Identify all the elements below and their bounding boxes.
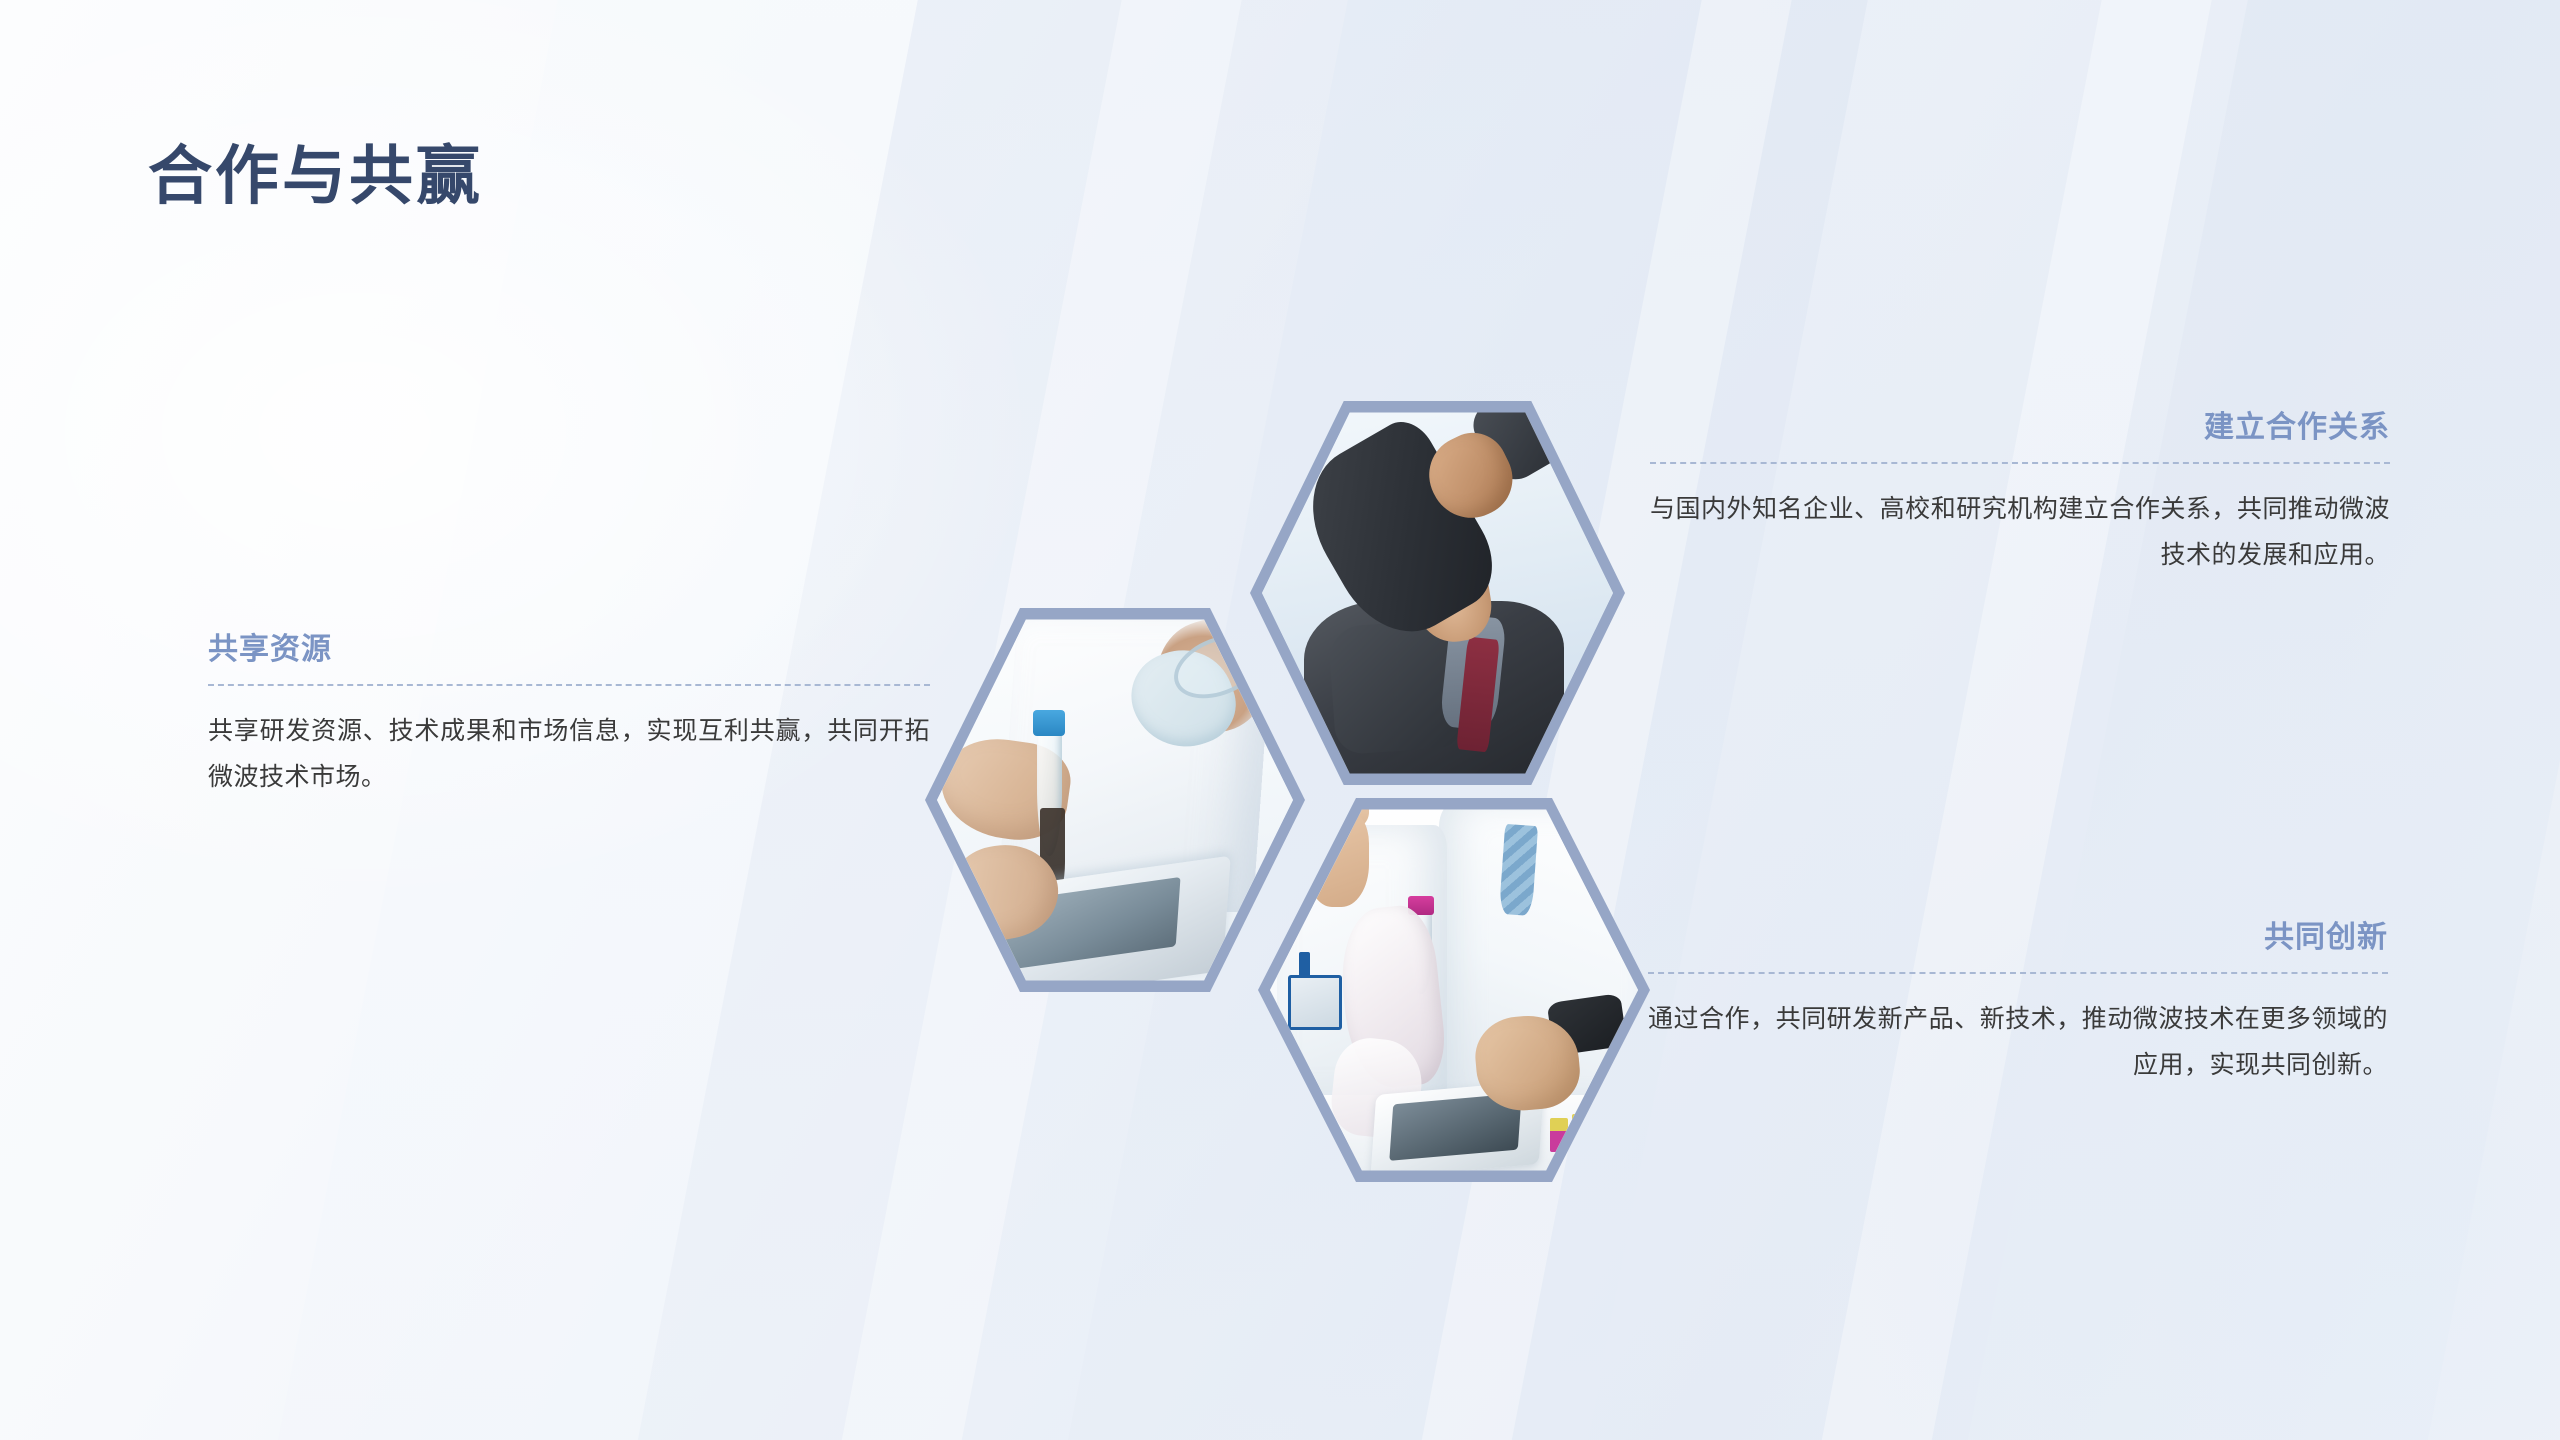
- band-highlight-3: [1752, 0, 2270, 1440]
- hexagon-border: [925, 600, 1305, 1000]
- hexagon-border: [1250, 393, 1625, 793]
- info-block-shared-resources: 共享资源 共享研发资源、技术成果和市场信息，实现互利共赢，共同开拓微波技术市场。: [208, 632, 930, 801]
- hexagon-border: [1258, 790, 1650, 1190]
- sample-vial-2-shape: [1572, 1114, 1590, 1148]
- hexagon-image-mask: [1270, 802, 1638, 1178]
- info-block-heading: 共同创新: [1648, 920, 2388, 956]
- photo-researchers: [1270, 802, 1638, 1178]
- info-block-body: 与国内外知名企业、高校和研究机构建立合作关系，共同推动微波技术的发展和应用。: [1650, 486, 2390, 579]
- page-title: 合作与共赢: [148, 125, 483, 217]
- photo-handshake: [1262, 405, 1613, 781]
- slide-canvas: 合作与共赢: [0, 0, 2560, 1440]
- band-4: [1902, 0, 2560, 1440]
- band-3: [1522, 0, 2310, 1440]
- sample-vial-1-shape: [1550, 1118, 1568, 1152]
- info-block-heading: 共享资源: [208, 632, 930, 668]
- neck-shape: [1307, 810, 1370, 908]
- info-block-joint-innovation: 共同创新 通过合作，共同研发新产品、新技术，推动微波技术在更多领域的应用，实现共…: [1648, 920, 2388, 1089]
- id-badge-shape: [1288, 975, 1342, 1030]
- hexagon-image-mask: [937, 612, 1293, 988]
- hexagon-image-mask: [1262, 405, 1613, 781]
- test-tube-cap-shape: [1033, 710, 1065, 736]
- divider-dashed: [1650, 462, 2390, 464]
- hexagon-handshake: [1250, 393, 1625, 793]
- divider-dashed: [208, 684, 930, 686]
- sample-vial-3-shape: [1561, 1140, 1579, 1174]
- info-block-establish-partnership: 建立合作关系 与国内外知名企业、高校和研究机构建立合作关系，共同推动微波技术的发…: [1650, 410, 2390, 579]
- divider-dashed: [1648, 972, 2388, 974]
- photo-lab-testtube: [937, 612, 1293, 988]
- hexagon-researchers: [1258, 790, 1650, 1190]
- info-block-body: 通过合作，共同研发新产品、新技术，推动微波技术在更多领域的应用，实现共同创新。: [1648, 996, 2388, 1089]
- hexagon-lab-testtube: [925, 600, 1305, 1000]
- info-block-heading: 建立合作关系: [1650, 410, 2390, 446]
- info-block-body: 共享研发资源、技术成果和市场信息，实现互利共赢，共同开拓微波技术市场。: [208, 708, 930, 801]
